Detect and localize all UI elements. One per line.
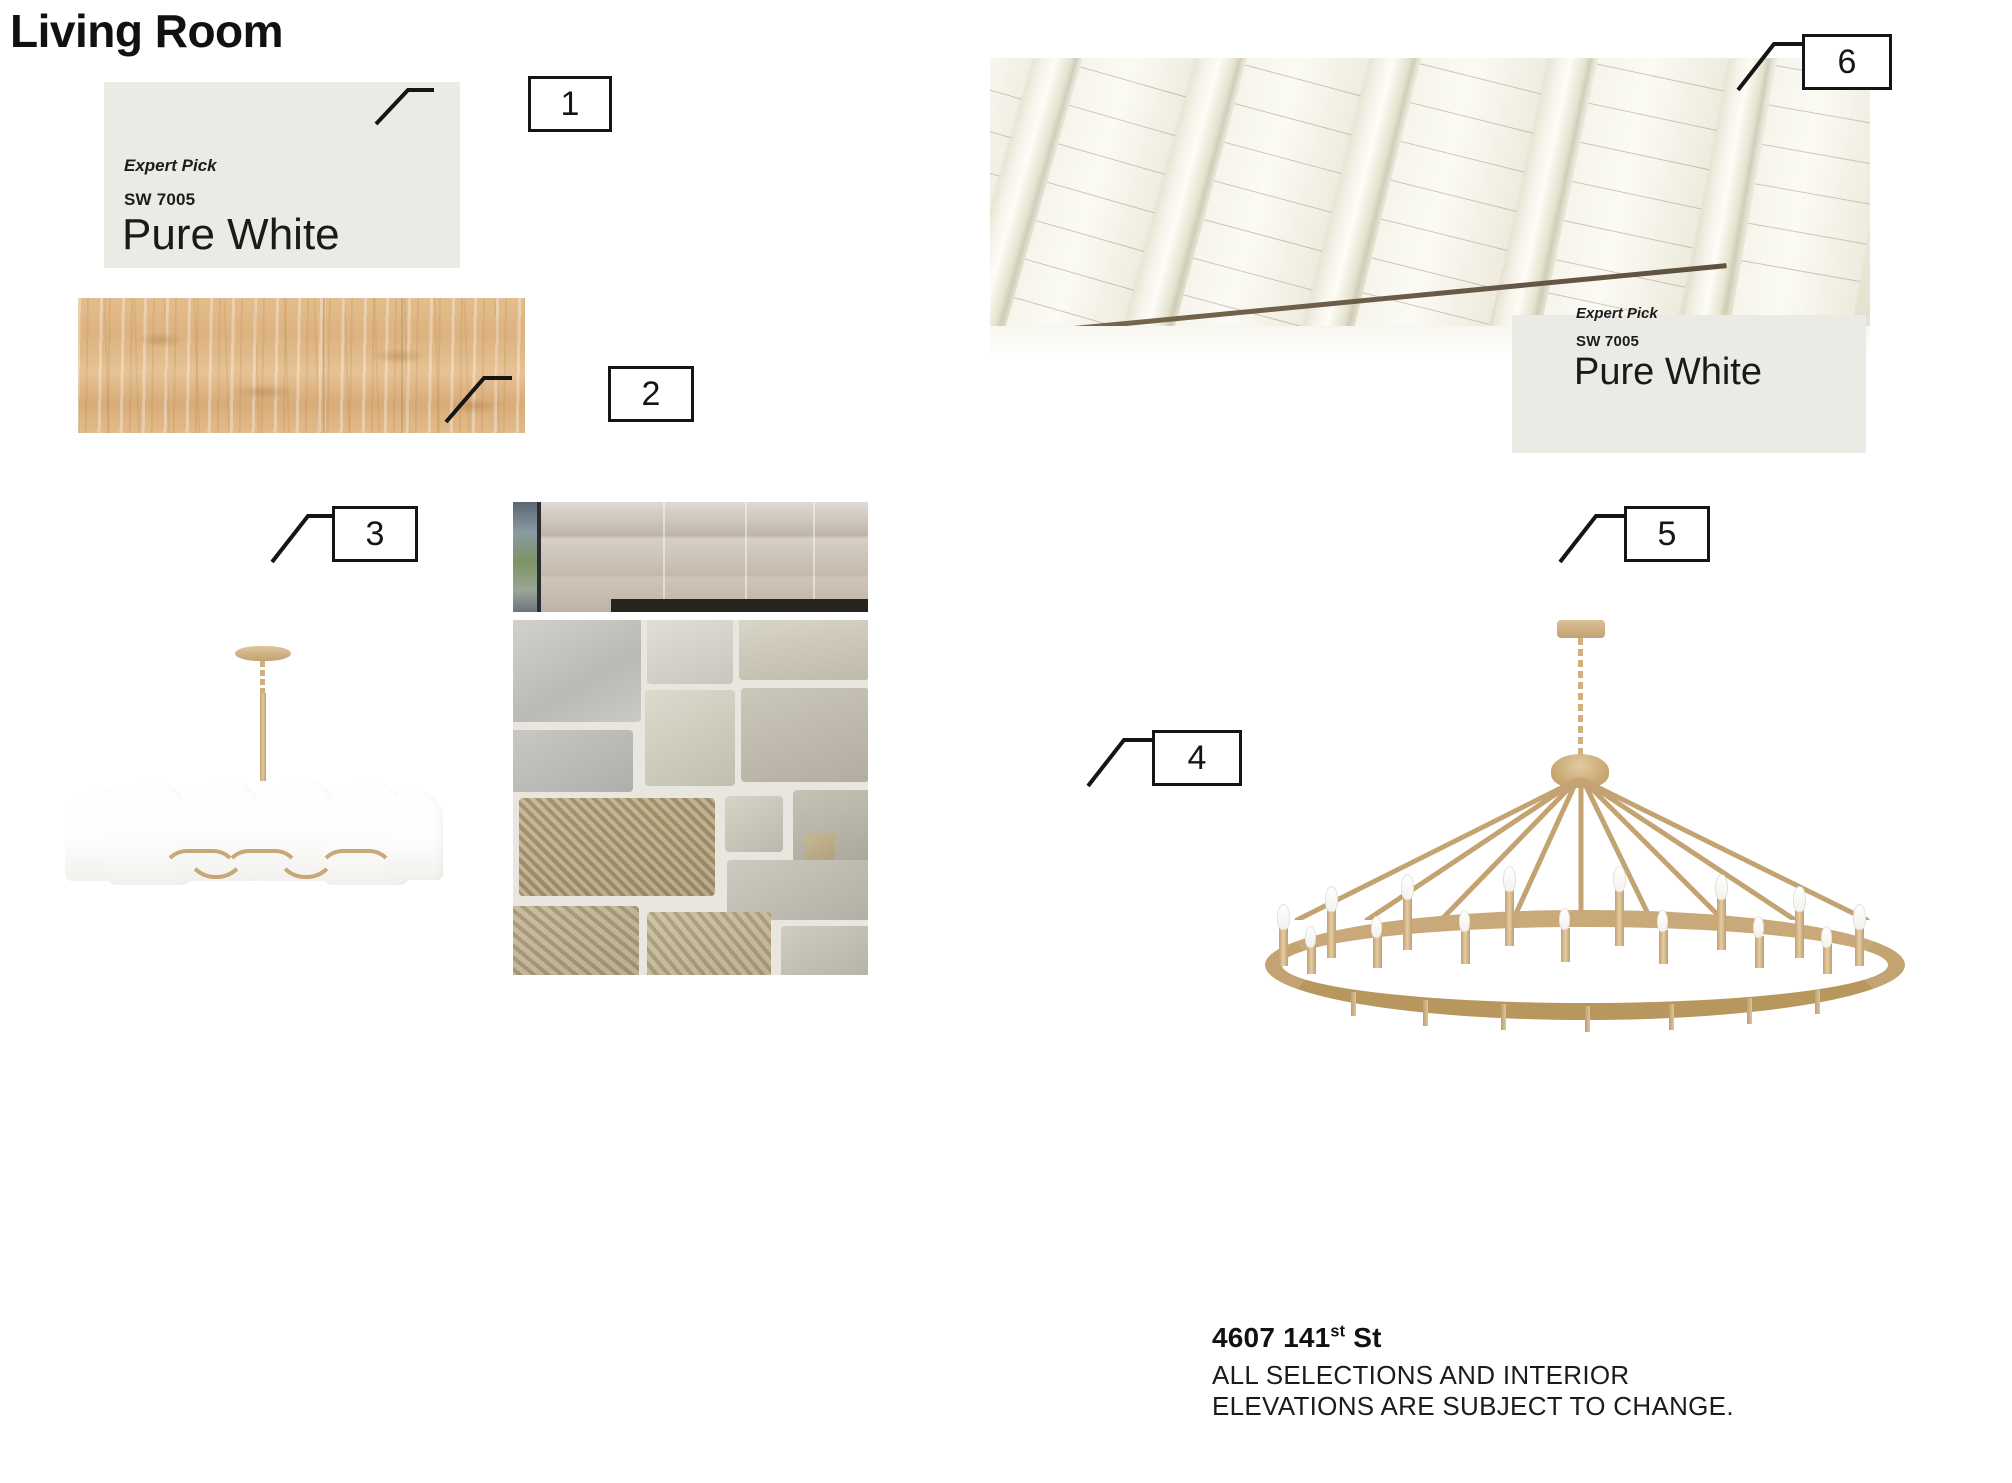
- mantel-shadow-bar: [611, 599, 868, 612]
- wood-grain-knot: [448, 398, 498, 414]
- callout-6[interactable]: 6: [1802, 34, 1892, 90]
- callout-4[interactable]: 4: [1152, 730, 1242, 786]
- stone-mantel-photo: [513, 502, 868, 612]
- swatch-color-name: Pure White: [1574, 351, 1866, 394]
- footer-block: 4607 141st St ALL SELECTIONS AND INTERIO…: [1212, 1322, 1932, 1421]
- pendant-chain: [260, 661, 265, 695]
- callout-number: 5: [1658, 515, 1677, 554]
- paint-swatch-card-2: Expert Pick SW 7005 Pure White: [1512, 315, 1866, 453]
- disclaimer-text: ALL SELECTIONS AND INTERIOR ELEVATIONS A…: [1212, 1360, 1932, 1421]
- swatch-color-code: SW 7005: [124, 190, 460, 210]
- callout-number: 1: [561, 85, 580, 124]
- plank-seam: [323, 298, 326, 433]
- swatch-expert-pick-label: Expert Pick: [1576, 305, 1866, 322]
- callout-3[interactable]: 3: [332, 506, 418, 562]
- stone-wall-photo: [513, 620, 868, 975]
- paint-swatch-card-1: Expert Pick SW 7005 Pure White: [104, 82, 460, 268]
- window-reflection: [513, 502, 539, 612]
- pendant-canopy: [235, 646, 291, 661]
- callout-2[interactable]: 2: [608, 366, 694, 422]
- disclaimer-line-1: ALL SELECTIONS AND INTERIOR: [1212, 1360, 1932, 1391]
- pendant-stem: [260, 693, 266, 781]
- brass-wagon-wheel-chandelier: [1255, 620, 1915, 1040]
- wood-grain-knot: [138, 332, 184, 348]
- disclaimer-line-2: ELEVATIONS ARE SUBJECT TO CHANGE.: [1212, 1391, 1932, 1422]
- wood-grain-knot: [368, 348, 428, 364]
- pendant-shade: [65, 776, 441, 881]
- swatch-color-name: Pure White: [122, 210, 460, 260]
- address-ordinal: st: [1330, 1323, 1345, 1341]
- callout-1[interactable]: 1: [528, 76, 612, 132]
- callout-number: 6: [1838, 43, 1857, 82]
- wood-flooring-sample: [78, 298, 525, 433]
- swatch-expert-pick-label: Expert Pick: [124, 156, 460, 176]
- address-number: 4607 141: [1212, 1322, 1330, 1353]
- callout-number: 4: [1188, 739, 1207, 778]
- callout-number: 3: [366, 515, 385, 554]
- address-street: St: [1345, 1322, 1381, 1353]
- callout-5[interactable]: 5: [1624, 506, 1710, 562]
- chandelier-ring: [1255, 888, 1915, 1038]
- mood-board: Living Room Expert Pick SW 7005 Pu: [0, 0, 2012, 1483]
- chandelier-spokes: [1255, 620, 1915, 920]
- swatch-color-code: SW 7005: [1576, 333, 1866, 350]
- scalloped-drum-pendant: [45, 628, 460, 878]
- page-title: Living Room: [10, 4, 283, 58]
- project-address: 4607 141st St: [1212, 1322, 1932, 1354]
- wood-grain-knot: [228, 384, 298, 400]
- callout-number: 2: [642, 375, 661, 414]
